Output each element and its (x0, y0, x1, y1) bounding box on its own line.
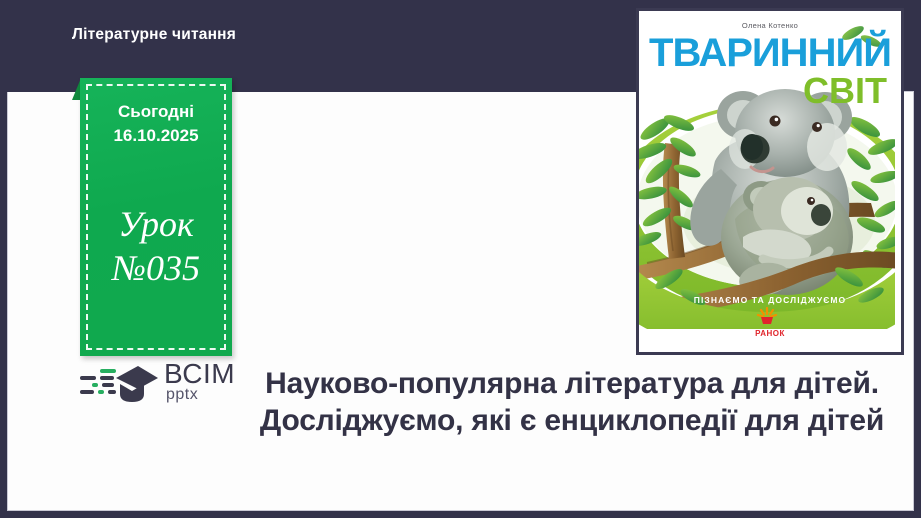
slide-canvas: Літературне читання Сьогодні 16.10.2025 … (0, 0, 921, 518)
logo-suffix-text: pptx (166, 387, 198, 403)
book-publisher-name: РАНОК (639, 329, 901, 338)
today-label: Сьогодні (80, 100, 232, 125)
lesson-date: 16.10.2025 (80, 126, 232, 146)
book-cover-artwork: Олена Котенко ТВАРИННИЙ СВІТ ПІЗНАЄМО ТА… (639, 11, 901, 352)
book-cover[interactable]: Олена Котенко ТВАРИННИЙ СВІТ ПІЗНАЄМО ТА… (636, 8, 904, 355)
vsim-pptx-logo[interactable]: ВСІМ pptx (78, 362, 246, 408)
main-caption: Науково-популярна література для дітей. … (238, 366, 906, 439)
logo-brand-text: ВСІМ (164, 360, 235, 388)
subject-header-label: Літературне читання (72, 26, 236, 44)
lesson-number: №035 (80, 250, 232, 286)
book-title-line2: СВІТ (803, 73, 887, 109)
lesson-card-body: Сьогодні 16.10.2025 Урок №035 (80, 78, 232, 356)
book-author: Олена Котенко (639, 21, 901, 30)
book-title-line1: ТВАРИННИЙ (639, 33, 901, 73)
book-tagline: ПІЗНАЄМО ТА ДОСЛІДЖУЄМО (639, 295, 901, 305)
lesson-word: Урок (80, 206, 232, 242)
lesson-card: Сьогодні 16.10.2025 Урок №035 (80, 78, 232, 356)
book-publisher: РАНОК (639, 329, 901, 338)
